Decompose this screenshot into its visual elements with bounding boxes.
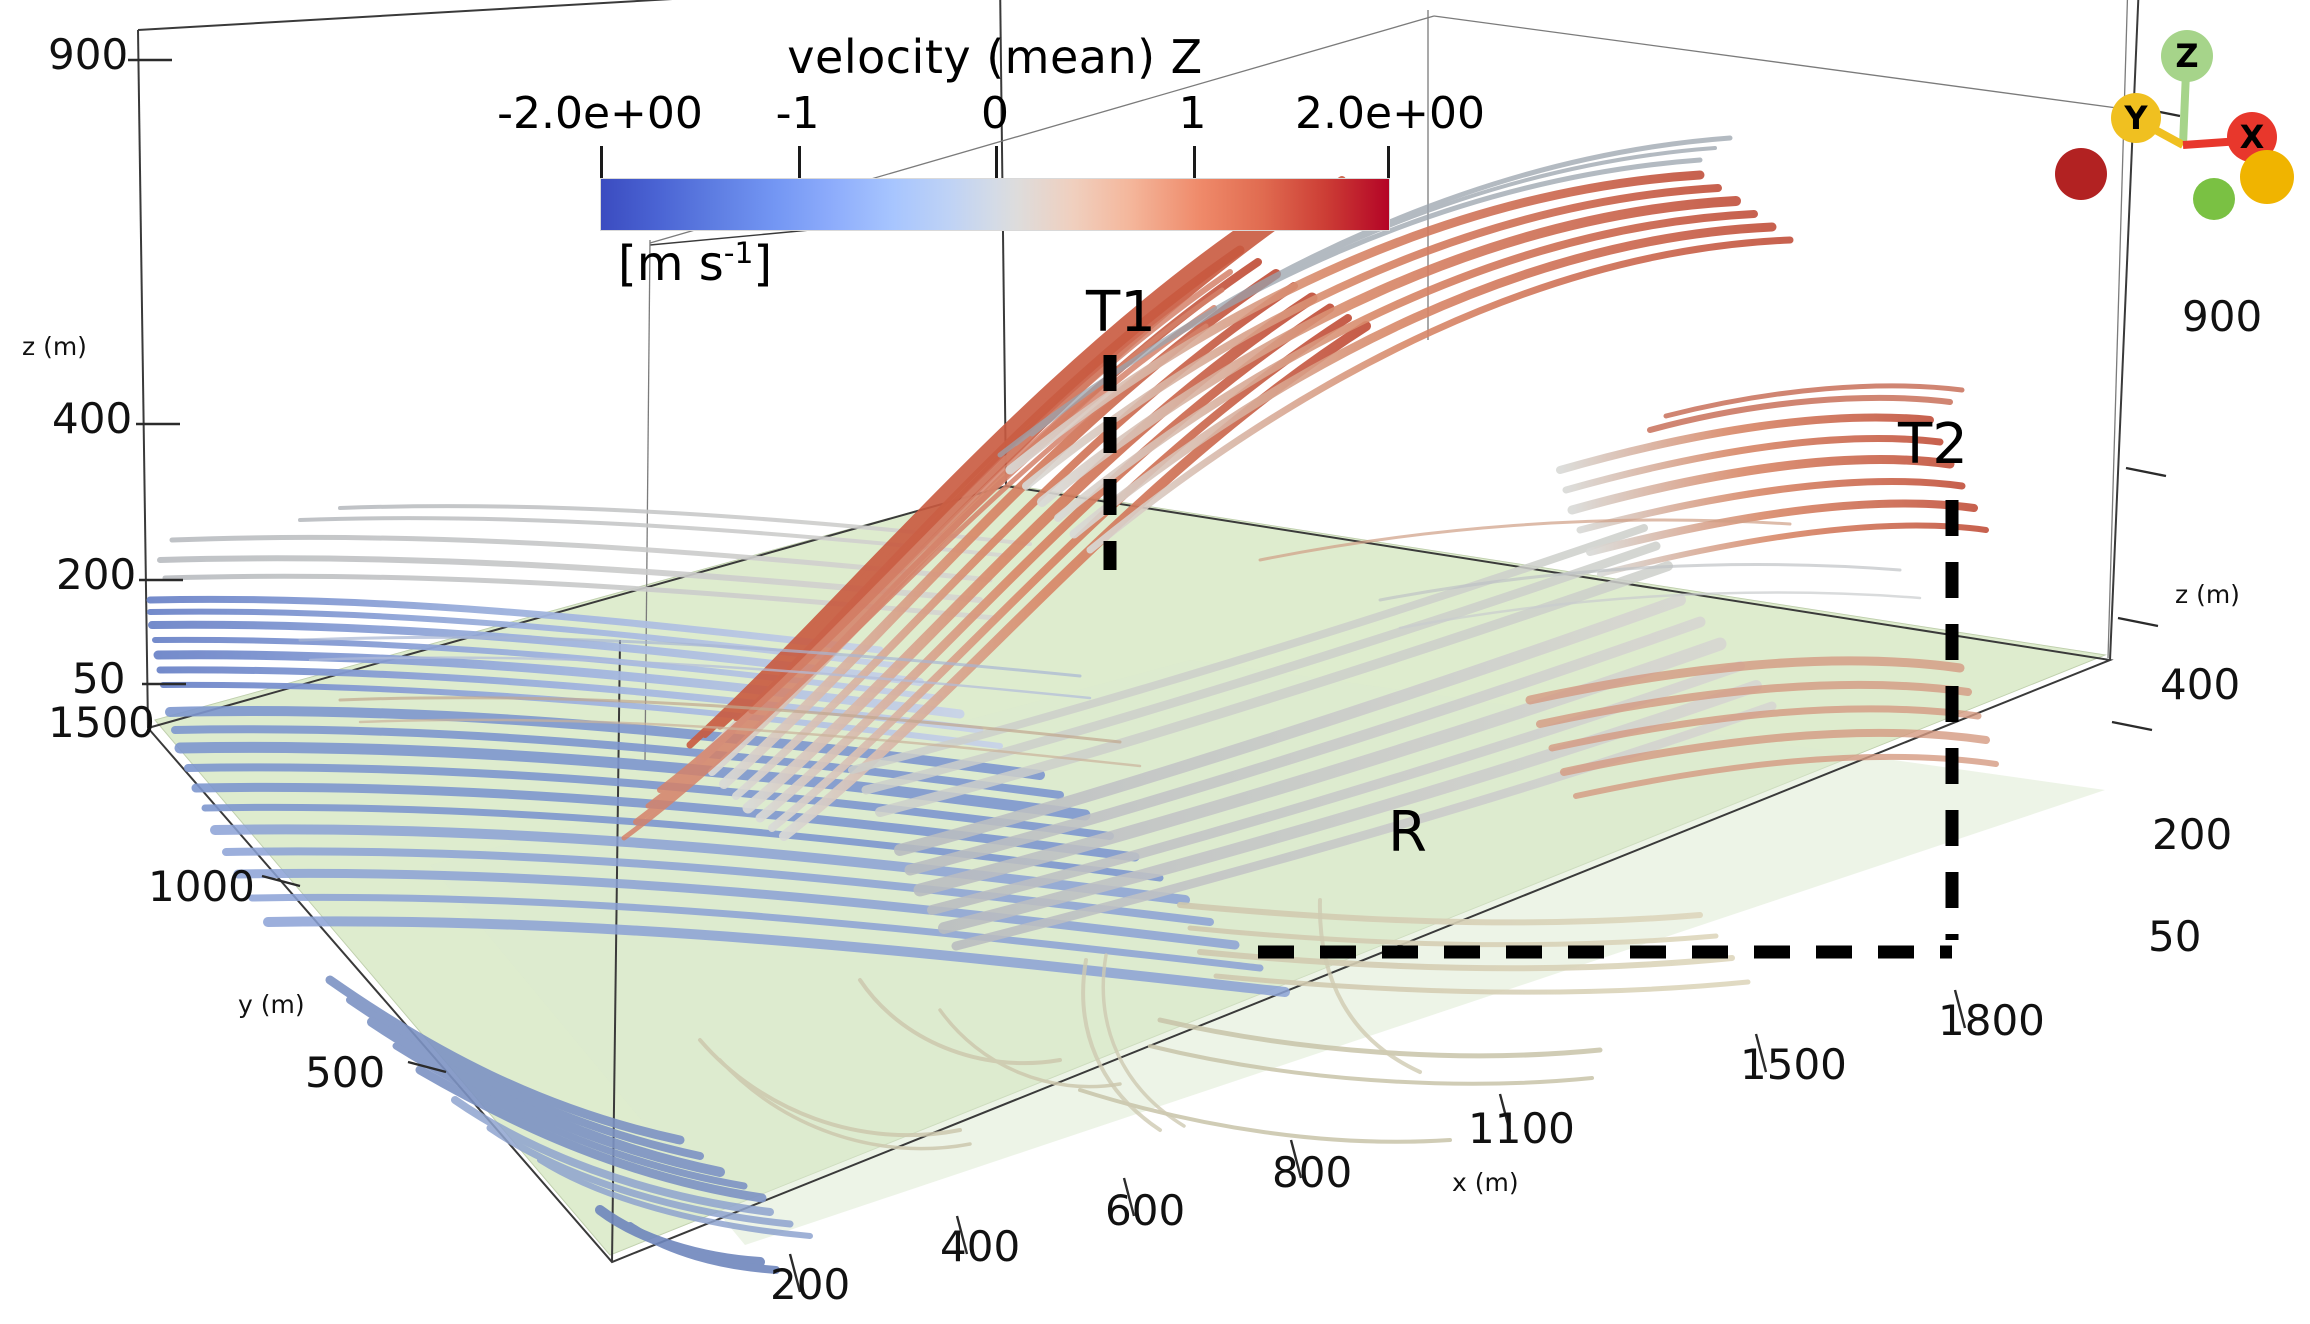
color-legend-tick-max [1387, 146, 1390, 180]
color-legend-units: [m s-1] [618, 236, 772, 292]
x-tick-800: 800 [1272, 1148, 1352, 1197]
orientation-axis-y[interactable]: Y [2111, 93, 2161, 143]
ground-plane [155, 485, 2105, 1255]
color-legend-tick-min [600, 146, 603, 180]
color-legend-units-prefix: [m s [618, 236, 724, 292]
color-legend-tick-label-min: -2.0e+00 [497, 88, 703, 139]
orientation-axis-minus-y[interactable] [2240, 150, 2294, 204]
x-tick-1500: 1500 [1740, 1040, 1847, 1089]
color-legend-tick-label-max: 2.0e+00 [1295, 88, 1485, 139]
x-tick-400: 400 [940, 1222, 1020, 1271]
z-right-tick-400: 400 [2160, 660, 2240, 709]
color-legend-units-suffix: ] [753, 236, 772, 292]
color-legend[interactable]: velocity (mean) Z -2.0e+00 -1 0 1 2.0e+0… [600, 30, 1390, 295]
color-legend-tick-zero [995, 146, 998, 180]
x-tick-1800: 1800 [1938, 996, 2045, 1045]
z-left-axis-title: z (m) [22, 332, 87, 361]
x-tick-200: 200 [770, 1260, 850, 1309]
orientation-axis-minus-x[interactable] [2055, 148, 2107, 200]
z-left-tick-900: 900 [48, 30, 128, 79]
color-legend-tick-label-zero: 0 [981, 88, 1009, 139]
z-right-tick-50: 50 [2148, 912, 2201, 961]
color-legend-units-exponent: -1 [724, 236, 754, 271]
annotation-r: R [1388, 800, 1427, 865]
color-legend-tick-label-pos1: 1 [1179, 88, 1207, 139]
color-legend-tick-pos1 [1193, 146, 1196, 180]
color-legend-gradient-bar[interactable] [600, 178, 1390, 231]
y-tick-500: 500 [305, 1048, 385, 1097]
orientation-axis-z[interactable]: Z [2161, 30, 2213, 82]
y-tick-1000: 1000 [148, 862, 255, 911]
z-right-tick-900: 900 [2182, 292, 2262, 341]
x-axis-title: x (m) [1452, 1168, 1519, 1197]
z-left-tick-400: 400 [52, 394, 132, 443]
visualization-canvas: velocity (mean) Z -2.0e+00 -1 0 1 2.0e+0… [0, 0, 2310, 1324]
y-axis-title: y (m) [238, 990, 305, 1019]
orientation-axes-widget[interactable]: Z Y X [2055, 20, 2310, 220]
orientation-axis-z-label: Z [2175, 37, 2198, 75]
z-right-tick-200: 200 [2152, 810, 2232, 859]
z-left-tick-200: 200 [56, 550, 136, 599]
color-legend-tick-neg1 [798, 146, 801, 180]
orientation-axis-y-label: Y [2124, 99, 2147, 137]
color-legend-tick-label-neg1: -1 [776, 88, 820, 139]
annotation-t1: T1 [1086, 280, 1156, 345]
annotation-t2: T2 [1898, 412, 1968, 477]
color-legend-title: velocity (mean) Z [600, 30, 1390, 84]
x-tick-600: 600 [1105, 1186, 1185, 1235]
orientation-axis-minus-z[interactable] [2193, 178, 2235, 220]
z-right-axis-title: z (m) [2175, 580, 2240, 609]
z-left-tick-50: 50 [72, 654, 125, 703]
x-tick-1100: 1100 [1468, 1104, 1575, 1153]
y-tick-1500: 1500 [48, 698, 155, 747]
